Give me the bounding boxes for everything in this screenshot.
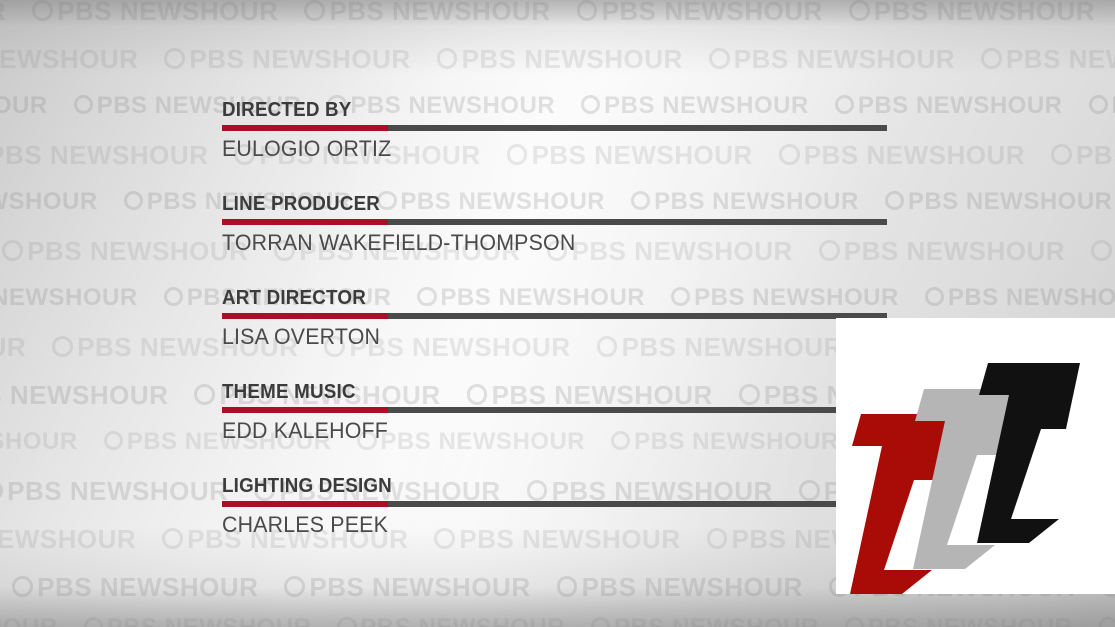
watermark-unit: PBS NEWSHOUR (2, 236, 248, 266)
watermark-text: PBS NEWSHOUR (582, 572, 803, 602)
pbs-circle-logo-icon (577, 0, 598, 21)
pbs-circle-logo-icon (925, 287, 944, 306)
watermark-text: PBS NEWSHOUR (27, 236, 248, 266)
watermark-text: PBS NEWSHOUR (0, 614, 58, 627)
watermark-text: PBS NEWSHOUR (0, 524, 136, 554)
credit-role: THEME MUSIC (222, 382, 861, 402)
watermark-unit: PBS NEWSHOUR (1099, 614, 1115, 627)
watermark-unit: PBS NEWSHOUR (0, 188, 98, 215)
credit-name: TORRAN WAKEFIELD-THOMPSON (222, 231, 882, 254)
watermark-text: PBS NEWSHOUR (0, 380, 168, 410)
pbs-circle-logo-icon (32, 0, 53, 21)
triple-t-logo (836, 318, 1115, 594)
watermark-text: PBS NEWSHOUR (462, 44, 683, 74)
watermark-unit: PBS NEWSHOUR (304, 0, 550, 26)
credit-name: EULOGIO ORTIZ (222, 137, 882, 160)
watermark-text: PBS NEWSHOUR (189, 44, 410, 74)
watermark-text: PBS NEWSHOUR (908, 188, 1113, 215)
credit-rule (222, 501, 887, 507)
pbs-circle-logo-icon (557, 576, 578, 597)
watermark-unit: PBS NEWSHOUR (981, 44, 1115, 74)
credit-entry: LIGHTING DESIGNCHARLES PEEK (222, 476, 902, 536)
watermark-unit: PBS NEWSHOUR (709, 44, 955, 74)
watermark-text: PBS NEWSHOUR (7, 476, 228, 506)
credit-rule (222, 125, 887, 131)
watermark-text: PBS NEWSHOUR (1076, 140, 1115, 170)
watermark-unit: PBS NEWSHOUR (0, 0, 6, 26)
watermark-unit: PBS NEWSHOUR (557, 572, 803, 602)
watermark-text: PBS NEWSHOUR (0, 92, 48, 119)
credit-rule (222, 313, 887, 319)
pbs-circle-logo-icon (709, 48, 730, 69)
watermark-unit: PBS NEWSHOUR (1051, 140, 1115, 170)
pbs-circle-logo-icon (1089, 95, 1108, 114)
watermark-unit: PBS NEWSHOUR (437, 44, 683, 74)
watermark-text: PBS NEWSHOUR (948, 284, 1115, 311)
pbs-circle-logo-icon (591, 617, 610, 627)
pbs-circle-logo-icon (1051, 144, 1072, 165)
watermark-unit: PBS NEWSHOUR (1089, 92, 1115, 119)
credit-entry: ART DIRECTORLISA OVERTON (222, 288, 902, 348)
credit-role: LIGHTING DESIGN (222, 476, 861, 496)
watermark-row: PBS NEWSHOURPBS NEWSHOURPBS NEWSHOURPBS … (0, 614, 1115, 627)
watermark-unit: PBS NEWSHOUR (0, 140, 208, 170)
credit-entry: LINE PRODUCERTORRAN WAKEFIELD-THOMPSON (222, 194, 902, 254)
credit-rule (222, 219, 887, 225)
watermark-text: PBS NEWSHOUR (0, 140, 208, 170)
pbs-circle-logo-icon (74, 95, 93, 114)
watermark-unit: PBS NEWSHOUR (337, 614, 565, 627)
pbs-circle-logo-icon (104, 431, 123, 450)
pbs-circle-logo-icon (84, 617, 103, 627)
watermark-unit: PBS NEWSHOUR (885, 188, 1113, 215)
watermark-text: PBS NEWSHOUR (329, 0, 550, 26)
credit-name: EDD KALEHOFF (222, 419, 882, 442)
credit-role: DIRECTED BY (222, 100, 861, 120)
watermark-unit: PBS NEWSHOUR (845, 614, 1073, 627)
pbs-circle-logo-icon (284, 576, 305, 597)
watermark-text: PBS NEWSHOUR (57, 0, 278, 26)
pbs-circle-logo-icon (2, 240, 23, 261)
pbs-circle-logo-icon (52, 336, 73, 357)
credit-entry: THEME MUSICEDD KALEHOFF (222, 382, 902, 442)
pbs-circle-logo-icon (164, 287, 183, 306)
pbs-circle-logo-icon (1091, 240, 1112, 261)
watermark-text: PBS NEWSHOUR (360, 614, 565, 627)
watermark-unit: PBS NEWSHOUR (164, 44, 410, 74)
watermark-text: PBS NEWSHOUR (37, 572, 258, 602)
watermark-text: PBS NEWSHOUR (868, 614, 1073, 627)
watermark-unit: PBS NEWSHOUR (0, 380, 168, 410)
watermark-unit: PBS NEWSHOUR (0, 284, 138, 311)
watermark-text: PBS NEWSHOUR (309, 572, 530, 602)
watermark-text: PBS NEWSHOUR (0, 188, 98, 215)
watermark-unit: PBS NEWSHOUR (0, 428, 78, 455)
watermark-text: PBS NEWSHOUR (0, 428, 78, 455)
watermark-text: PBS NEWSHOUR (107, 614, 312, 627)
credit-role: ART DIRECTOR (222, 288, 861, 308)
credit-name: CHARLES PEEK (222, 513, 882, 536)
watermark-text: PBS NEWSHOUR (1112, 92, 1115, 119)
credit-role: LINE PRODUCER (222, 194, 861, 214)
pbs-circle-logo-icon (849, 0, 870, 21)
pbs-circle-logo-icon (124, 191, 143, 210)
logo-card (836, 318, 1115, 594)
watermark-unit: PBS NEWSHOUR (32, 0, 278, 26)
watermark-unit: PBS NEWSHOUR (0, 476, 228, 506)
credit-rule (222, 407, 887, 413)
watermark-text: PBS NEWSHOUR (874, 0, 1095, 26)
watermark-unit: PBS NEWSHOUR (1091, 236, 1115, 266)
watermark-unit: PBS NEWSHOUR (0, 332, 26, 362)
watermark-text: PBS NEWSHOUR (0, 44, 138, 74)
watermark-text: PBS NEWSHOUR (614, 614, 819, 627)
watermark-unit: PBS NEWSHOUR (0, 92, 48, 119)
credits-screen: PBS NEWSHOURPBS NEWSHOURPBS NEWSHOURPBS … (0, 0, 1115, 627)
watermark-text: PBS NEWSHOUR (602, 0, 823, 26)
watermark-unit: PBS NEWSHOUR (84, 614, 312, 627)
pbs-circle-logo-icon (162, 528, 183, 549)
credit-entry: DIRECTED BYEULOGIO ORTIZ (222, 100, 902, 160)
watermark-text: PBS NEWSHOUR (0, 284, 138, 311)
pbs-circle-logo-icon (12, 576, 33, 597)
watermark-text: PBS NEWSHOUR (0, 332, 26, 362)
watermark-unit: PBS NEWSHOUR (284, 572, 530, 602)
watermark-unit: PBS NEWSHOUR (12, 572, 258, 602)
pbs-circle-logo-icon (337, 617, 356, 627)
watermark-row: PBS NEWSHOURPBS NEWSHOURPBS NEWSHOURPBS … (0, 0, 1115, 27)
watermark-text: PBS NEWSHOUR (0, 0, 6, 26)
pbs-circle-logo-icon (164, 48, 185, 69)
watermark-unit: PBS NEWSHOUR (591, 614, 819, 627)
watermark-unit: PBS NEWSHOUR (0, 44, 138, 74)
pbs-circle-logo-icon (845, 617, 864, 627)
pbs-circle-logo-icon (304, 0, 325, 21)
pbs-circle-logo-icon (437, 48, 458, 69)
pbs-circle-logo-icon (981, 48, 1002, 69)
credit-name: LISA OVERTON (222, 325, 882, 348)
watermark-unit: PBS NEWSHOUR (925, 284, 1115, 311)
watermark-unit: PBS NEWSHOUR (0, 524, 136, 554)
watermark-unit: PBS NEWSHOUR (0, 614, 58, 627)
pbs-circle-logo-icon (1099, 617, 1115, 627)
watermark-unit: PBS NEWSHOUR (849, 0, 1095, 26)
watermark-text: PBS NEWSHOUR (734, 44, 955, 74)
pbs-circle-logo-icon (194, 384, 215, 405)
watermark-text: PBS NEWSHOUR (1006, 44, 1115, 74)
credits-list: DIRECTED BYEULOGIO ORTIZLINE PRODUCERTOR… (222, 100, 902, 536)
pbs-circle-logo-icon (0, 480, 3, 501)
watermark-row: PBS NEWSHOURPBS NEWSHOURPBS NEWSHOURPBS … (0, 44, 1115, 75)
watermark-unit: PBS NEWSHOUR (577, 0, 823, 26)
